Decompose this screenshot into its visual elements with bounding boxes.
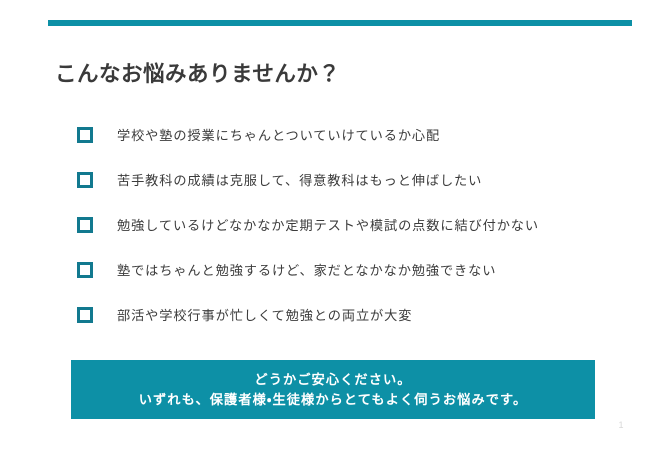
top-accent-rule <box>48 20 632 26</box>
page-number: 1 <box>614 420 628 430</box>
checkbox-empty-icon[interactable] <box>77 172 93 188</box>
list-item[interactable]: 部活や学校行事が忙しくて勉強との両立が大変 <box>77 292 637 337</box>
list-item[interactable]: 塾ではちゃんと勉強するけど、家だとなかなか勉強できない <box>77 247 637 292</box>
list-item-label: 学校や塾の授業にちゃんとついていけているか心配 <box>117 125 440 144</box>
slide-canvas: こんなお悩みありませんか？ 学校や塾の授業にちゃんとついていけているか心配 苦手… <box>0 0 664 468</box>
list-item-label: 勉強しているけどなかなか定期テストや模試の点数に結び付かない <box>117 215 539 234</box>
reassurance-subtext: いずれも、保護者様・生徒様からとてもよく伺うお悩みです。 <box>139 390 528 410</box>
list-item-label: 部活や学校行事が忙しくて勉強との両立が大変 <box>117 305 412 324</box>
page-title: こんなお悩みありませんか？ <box>55 60 340 89</box>
checkbox-empty-icon[interactable] <box>77 127 93 143</box>
checkbox-empty-icon[interactable] <box>77 217 93 233</box>
list-item-label: 苦手教科の成績は克服して、得意教科はもっと伸ばしたい <box>117 170 482 189</box>
list-item[interactable]: 学校や塾の授業にちゃんとついていけているか心配 <box>77 112 637 157</box>
list-item-label: 塾ではちゃんと勉強するけど、家だとなかなか勉強できない <box>117 260 496 279</box>
reassurance-banner: どうかご安心ください。 いずれも、保護者様・生徒様からとてもよく伺うお悩みです。 <box>71 360 595 419</box>
worries-checklist: 学校や塾の授業にちゃんとついていけているか心配 苦手教科の成績は克服して、得意教… <box>77 112 637 337</box>
checkbox-empty-icon[interactable] <box>77 262 93 278</box>
checkbox-empty-icon[interactable] <box>77 307 93 323</box>
list-item[interactable]: 勉強しているけどなかなか定期テストや模試の点数に結び付かない <box>77 202 637 247</box>
reassurance-headline: どうかご安心ください。 <box>254 370 411 390</box>
list-item[interactable]: 苦手教科の成績は克服して、得意教科はもっと伸ばしたい <box>77 157 637 202</box>
